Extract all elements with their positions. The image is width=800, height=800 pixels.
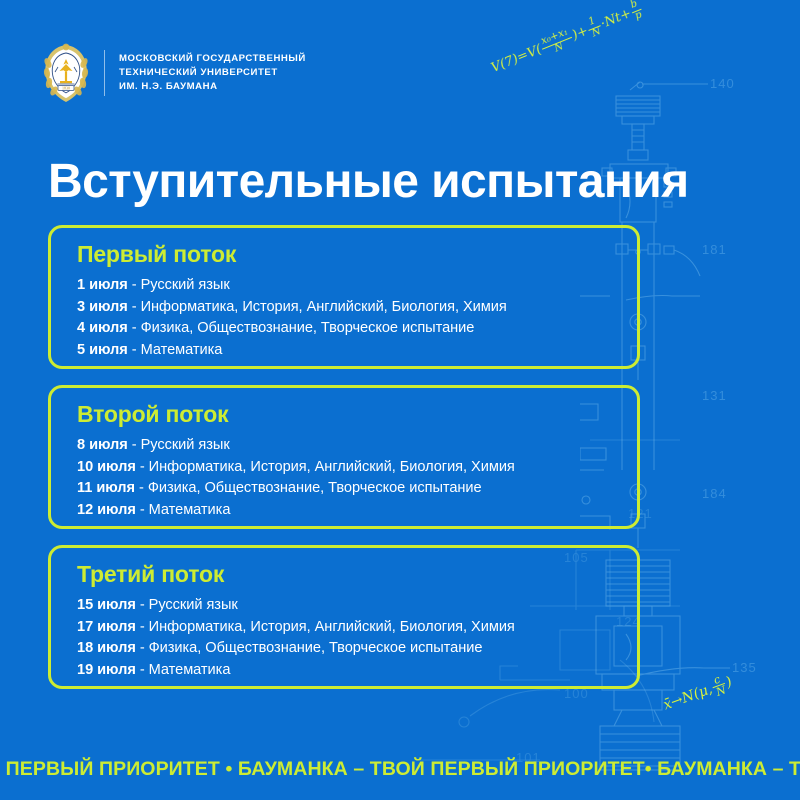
stream-row-subjects: Русский язык: [141, 277, 230, 293]
stream-row: 5 июля - Математика: [77, 340, 637, 362]
stream-box-third: Третий поток 15 июля - Русский язык 17 и…: [48, 545, 640, 689]
stream-row-dash: -: [139, 480, 144, 496]
stream-row: 10 июля - Информатика, История, Английск…: [77, 457, 637, 479]
stream-row-subjects: Информатика, История, Английский, Биолог…: [149, 619, 515, 635]
stream-row: 15 июля - Русский язык: [77, 595, 637, 617]
stream-row-subjects: Физика, Обществознание, Творческое испыт…: [148, 480, 482, 496]
university-name-line-2: ТЕХНИЧЕСКИЙ УНИВЕРСИТЕТ: [119, 66, 306, 80]
stream-row-subjects: Математика: [149, 502, 231, 518]
university-name: МОСКОВСКИЙ ГОСУДАРСТВЕННЫЙ ТЕХНИЧЕСКИЙ У…: [119, 52, 306, 95]
stream-title: Третий поток: [77, 560, 637, 588]
svg-text:181: 181: [702, 242, 727, 257]
stream-row-date: 11 июля: [77, 480, 135, 496]
stream-row-subjects: Математика: [149, 662, 231, 678]
stream-row-date: 10 июля: [77, 459, 136, 475]
stream-row-subjects: Физика, Обществознание, Творческое испыт…: [141, 320, 475, 336]
university-logo: 1830 МОСКОВСКИЙ ГОСУДАРСТВЕННЫЙ ТЕХНИЧЕС…: [38, 42, 306, 104]
stream-row-dash: -: [132, 320, 137, 336]
stream-box-first: Первый поток 1 июля - Русский язык 3 июл…: [48, 225, 640, 369]
svg-text:135: 135: [732, 660, 757, 675]
svg-text:184: 184: [702, 486, 727, 501]
university-name-line-1: МОСКОВСКИЙ ГОСУДАРСТВЕННЫЙ: [119, 52, 306, 66]
stream-row: 17 июля - Информатика, История, Английск…: [77, 617, 637, 639]
stream-row-subjects: Русский язык: [149, 597, 238, 613]
stream-row-date: 17 июля: [77, 619, 136, 635]
stream-row-dash: -: [132, 277, 137, 293]
stream-row-date: 19 июля: [77, 662, 136, 678]
stream-row-subjects: Физика, Обществознание, Творческое испыт…: [149, 640, 483, 656]
stream-row-date: 5 июля: [77, 342, 128, 358]
university-name-line-3: ИМ. Н.Э. БАУМАНА: [119, 80, 306, 94]
stream-box-second: Второй поток 8 июля - Русский язык 10 ию…: [48, 385, 640, 529]
stream-row: 12 июля - Математика: [77, 500, 637, 522]
stream-row-date: 18 июля: [77, 640, 136, 656]
stream-row-dash: -: [140, 597, 145, 613]
handwritten-formula-bottom: x̄→N(μ,cN): [660, 670, 736, 717]
stream-row-dash: -: [140, 619, 145, 635]
stream-row: 1 июля - Русский язык: [77, 275, 637, 297]
stream-row-subjects: Информатика, История, Английский, Биолог…: [141, 299, 507, 315]
stream-row-dash: -: [140, 502, 145, 518]
stream-row-subjects: Русский язык: [141, 437, 230, 453]
stream-title: Второй поток: [77, 400, 637, 428]
stream-title: Первый поток: [77, 240, 637, 268]
logo-divider: [104, 50, 105, 96]
stream-row-subjects: Математика: [141, 342, 223, 358]
stream-row-dash: -: [132, 299, 137, 315]
stream-row-dash: -: [140, 459, 145, 475]
stream-row: 3 июля - Информатика, История, Английски…: [77, 297, 637, 319]
stream-row: 8 июля - Русский язык: [77, 435, 637, 457]
stream-row-dash: -: [132, 437, 137, 453]
stream-row: 19 июля - Математика: [77, 660, 637, 682]
svg-text:131: 131: [702, 388, 727, 403]
stream-row-date: 15 июля: [77, 597, 136, 613]
page-title: Вступительные испытания: [48, 154, 689, 210]
stream-row-date: 12 июля: [77, 502, 136, 518]
stream-row-date: 3 июля: [77, 299, 128, 315]
bottom-ticker-banner: Й ПЕРВЫЙ ПРИОРИТЕТ • БАУМАНКА – ТВОЙ ПЕР…: [0, 752, 800, 786]
ticker-text: Й ПЕРВЫЙ ПРИОРИТЕТ • БАУМАНКА – ТВОЙ ПЕР…: [0, 752, 800, 786]
svg-text:140: 140: [710, 76, 735, 91]
poster-canvas: 140 121 181 131 184 135 105 124 100 101 …: [0, 0, 800, 800]
stream-row-dash: -: [140, 640, 145, 656]
stream-row-date: 4 июля: [77, 320, 128, 336]
svg-text:1830: 1830: [62, 86, 70, 91]
stream-row-date: 8 июля: [77, 437, 128, 453]
stream-row-subjects: Информатика, История, Английский, Биолог…: [149, 459, 515, 475]
handwritten-formula-top: V(7)=V(x₀+x₁N)+1N·Nt+bp: [488, 0, 647, 79]
stream-row: 11 июля - Физика, Обществознание, Творче…: [77, 478, 637, 500]
stream-row-dash: -: [140, 662, 145, 678]
stream-row-date: 1 июля: [77, 277, 128, 293]
bauman-coat-of-arms-icon: 1830: [38, 43, 94, 103]
stream-row: 18 июля - Физика, Обществознание, Творче…: [77, 638, 637, 660]
stream-row-dash: -: [132, 342, 137, 358]
exam-streams-list: Первый поток 1 июля - Русский язык 3 июл…: [48, 225, 640, 705]
stream-row: 4 июля - Физика, Обществознание, Творчес…: [77, 318, 637, 340]
